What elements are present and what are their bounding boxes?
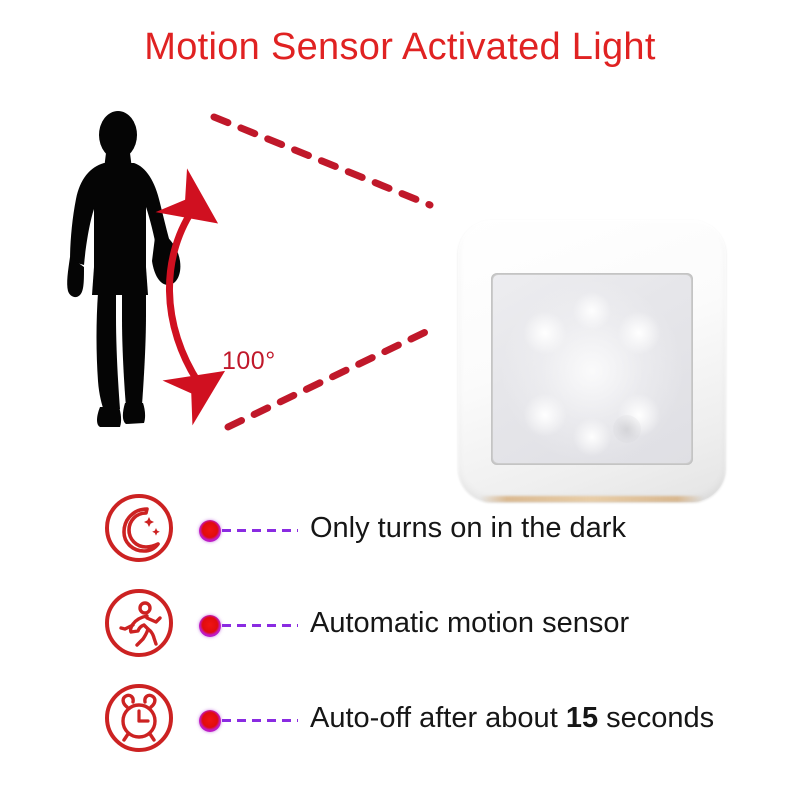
feature-label: Auto-off after about 15 seconds: [310, 702, 714, 735]
alarm-clock-icon: [103, 682, 175, 754]
angle-arc-double-arrow: [169, 205, 200, 385]
feature-bullet-dot: [199, 710, 221, 732]
device-diffuser-panel: [493, 275, 691, 463]
feature-dashed-connector: [222, 719, 298, 722]
feature-dashed-connector: [222, 624, 298, 627]
walking-person-silhouette: [67, 111, 180, 427]
feature-list: Only turns on in the dark Automatic moti…: [0, 480, 800, 765]
feature-bullet-dot: [199, 615, 221, 637]
feature-label-bold: 15: [566, 702, 598, 734]
feature-row: Automatic motion sensor: [0, 575, 800, 670]
feature-dashed-connector: [222, 529, 298, 532]
running-person-icon: [103, 587, 175, 659]
feature-bullet-dot: [199, 520, 221, 542]
moon-stars-icon: [103, 492, 175, 564]
cone-line-upper: [214, 117, 430, 205]
page-title: Motion Sensor Activated Light: [0, 26, 800, 69]
feature-row: Auto-off after about 15 seconds: [0, 670, 800, 765]
feature-label-after: seconds: [598, 702, 714, 734]
led-night-light-device: [458, 220, 726, 508]
feature-label-before: Auto-off after about: [310, 702, 566, 734]
cone-line-lower: [228, 327, 436, 427]
feature-label: Automatic motion sensor: [310, 607, 629, 640]
feature-row: Only turns on in the dark: [0, 480, 800, 575]
angle-label: 100°: [222, 347, 276, 376]
infographic-canvas: Motion Sensor Activated Light: [0, 0, 800, 800]
feature-label: Only turns on in the dark: [310, 512, 626, 545]
device-sensor-dot: [613, 415, 641, 443]
detection-scene: 100°: [0, 95, 800, 455]
